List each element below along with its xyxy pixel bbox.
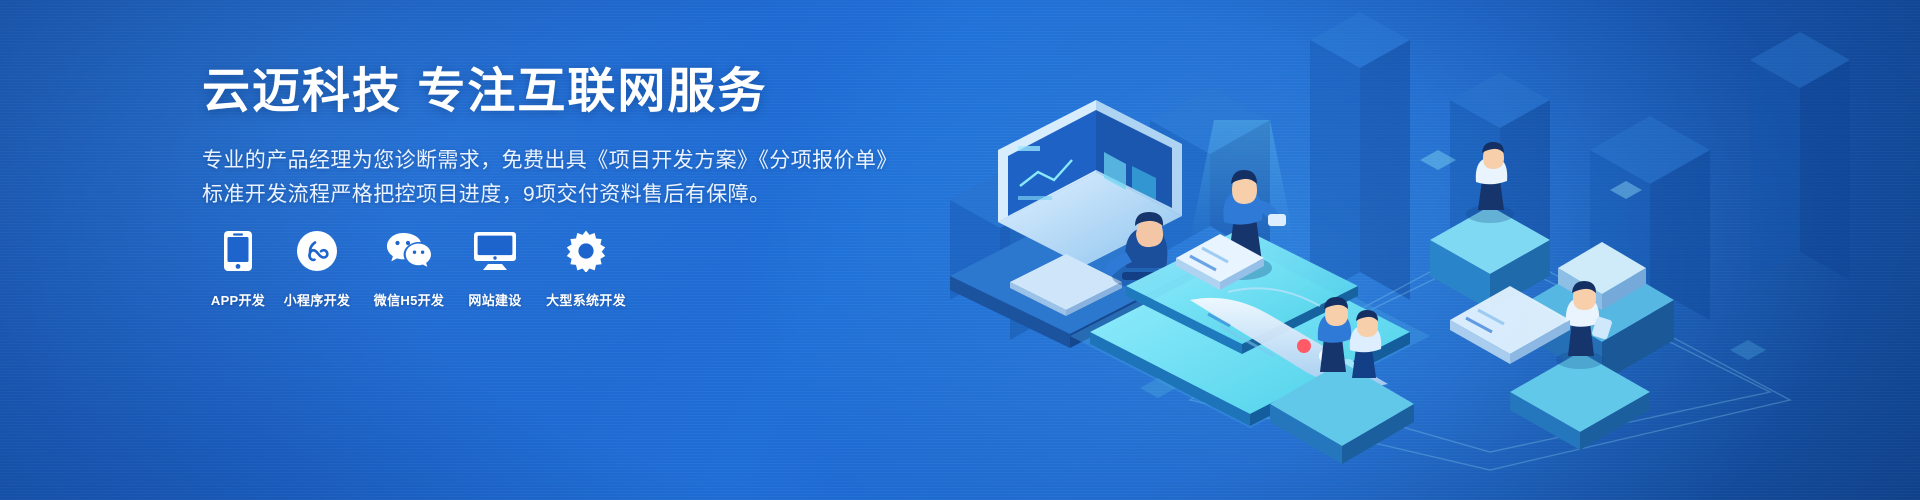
person-seated — [1104, 212, 1167, 288]
promo-banner: 云迈科技 专注互联网服务 专业的产品经理为您诊断需求，免费出具《项目开发方案》《… — [0, 0, 1920, 500]
service-label-large-system: 大型系统开发 — [546, 290, 626, 309]
platform-wireframe — [1190, 240, 1790, 470]
banner-subtitle: 专业的产品经理为您诊断需求，免费出具《项目开发方案》《分项报价单》 标准开发流程… — [202, 144, 902, 212]
service-item-website[interactable]: 网站建设 — [456, 228, 534, 309]
service-list: APP开发 小程序开发 — [204, 228, 638, 309]
cube-person-scene — [1430, 142, 1550, 310]
desk-monitor-scene — [950, 100, 1190, 348]
main-platform-scene — [1070, 120, 1430, 428]
floating-diamonds — [1140, 150, 1766, 398]
mini-program-icon — [294, 228, 340, 274]
floating-ui-card — [1450, 286, 1570, 364]
service-item-app[interactable]: APP开发 — [204, 228, 272, 309]
person-with-tablet — [1510, 281, 1650, 450]
mobile-phone-icon — [215, 228, 261, 274]
dashboard-sheet — [1190, 288, 1388, 387]
service-item-mini-program[interactable]: 小程序开发 — [272, 228, 362, 309]
service-item-large-system[interactable]: 大型系统开发 — [534, 228, 638, 309]
wechat-icon — [386, 228, 432, 274]
person-standing — [1212, 170, 1286, 280]
gear-icon — [563, 228, 609, 274]
person-on-cube — [1466, 142, 1514, 223]
service-label-website: 网站建设 — [468, 290, 521, 309]
banner-subtitle-line-2: 标准开发流程严格把控项目进度，9项交付资料售后有保障。 — [202, 178, 902, 212]
service-label-wechat-h5: 微信H5开发 — [374, 290, 444, 309]
banner-headline: 云迈科技 专注互联网服务 — [202, 62, 902, 122]
team-collaboration-scene — [1270, 297, 1414, 464]
monitor-icon — [472, 228, 518, 274]
service-label-app: APP开发 — [211, 290, 265, 309]
isometric-technology-illustration — [890, 0, 1920, 500]
banner-text-block: 云迈科技 专注互联网服务 专业的产品经理为您诊断需求，免费出具《项目开发方案》《… — [202, 62, 902, 212]
background-buildings — [950, 12, 1850, 340]
service-label-mini-program: 小程序开发 — [284, 290, 351, 309]
block-stack — [1530, 242, 1674, 382]
document-card — [1176, 234, 1264, 290]
service-item-wechat-h5[interactable]: 微信H5开发 — [362, 228, 456, 309]
banner-subtitle-line-1: 专业的产品经理为您诊断需求，免费出具《项目开发方案》《分项报价单》 — [202, 144, 902, 178]
